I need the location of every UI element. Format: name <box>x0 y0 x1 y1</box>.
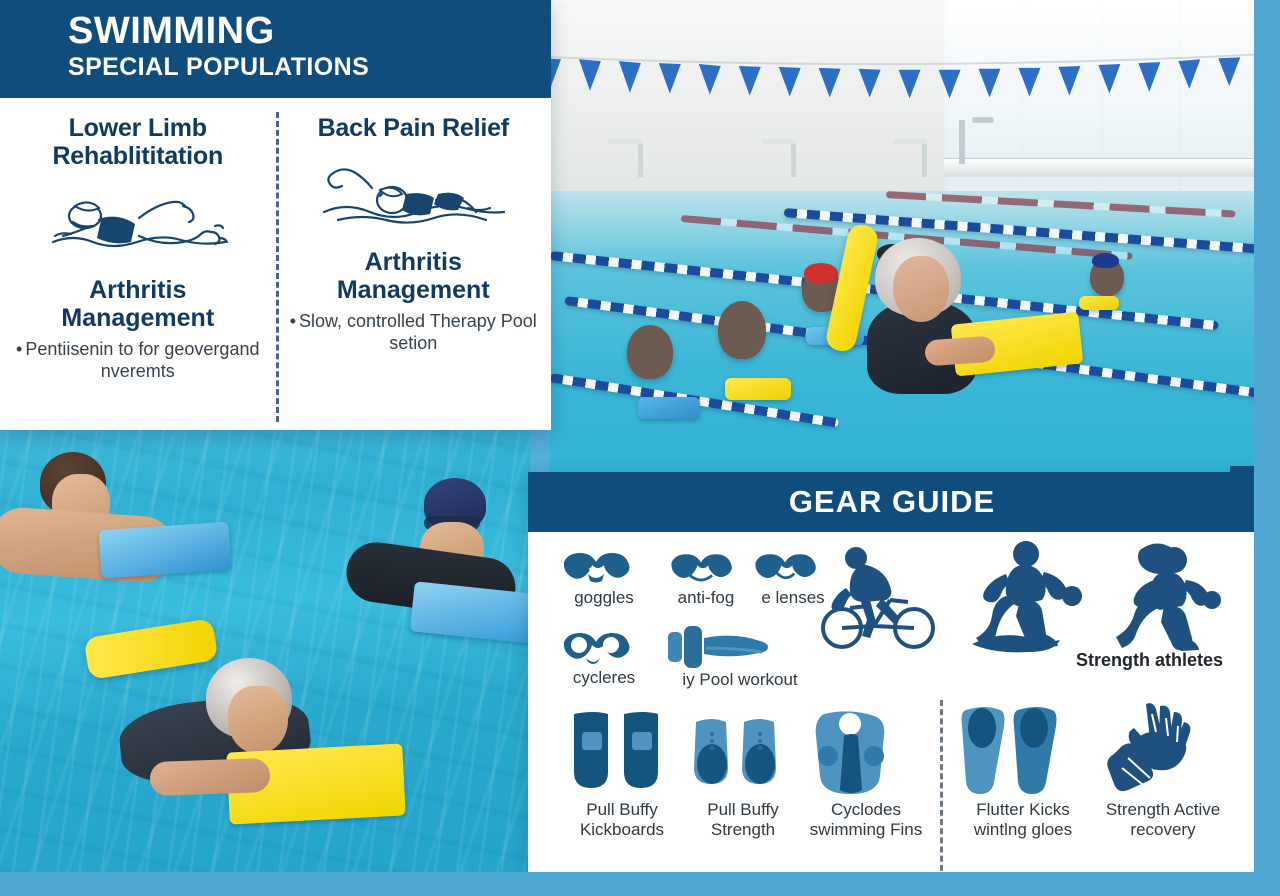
gear-guide-card: GEAR GUIDE goggles anti-f <box>528 472 1256 872</box>
goggles-icon <box>558 630 634 668</box>
gear-item-label: Flutter Kicks wintlng gloes <box>948 800 1098 840</box>
swim-fin-icon <box>800 708 904 800</box>
dumbbell-icon <box>660 624 770 670</box>
cyclist-icon <box>820 542 944 652</box>
infographic-canvas: SWIMMING SPECIAL POPULATIONS Lower Limb … <box>0 0 1280 896</box>
bullet-dot: • <box>16 339 22 359</box>
runner-icon <box>948 538 1098 658</box>
column-heading: Lower Limb Rehablititation <box>14 114 262 170</box>
gear-item[interactable]: Cyclodes swimming Fins <box>800 708 932 840</box>
kickboard-blue <box>638 397 700 419</box>
pool-lanes-photo <box>550 0 1280 478</box>
gear-guide-body: goggles anti-fog e lenses <box>528 532 1256 872</box>
gear-item-label: cycleres <box>558 668 650 688</box>
gear-item-label: Strength Active recovery <box>1088 800 1238 840</box>
column-lower-limb: Lower Limb Rehablititation <box>0 98 276 440</box>
column-subheading: Arthritis Management <box>290 248 538 304</box>
gear-item-label: anti-fog <box>666 588 746 608</box>
gear-item-label: Cyclodes swimming Fins <box>800 800 932 840</box>
pennant-flags-icon <box>550 43 1280 110</box>
corner-accent <box>1230 466 1256 528</box>
kickboard-pair-icon <box>562 708 674 800</box>
right-edge-rail <box>1254 0 1280 896</box>
special-populations-card: SWIMMING SPECIAL POPULATIONS Lower Limb … <box>0 0 551 430</box>
gear-item[interactable]: Pull Buffy Kickboards <box>562 708 682 840</box>
special-populations-columns: Lower Limb Rehablititation <box>0 98 551 440</box>
bottom-edge-rail <box>0 872 1280 896</box>
bullet-text: Slow, controlled Therapy Pool setion <box>299 311 537 353</box>
page-title: SWIMMING <box>68 12 551 51</box>
column-back-pain: Back Pain Relief <box>276 98 552 440</box>
senior-swimmer-foreground <box>813 220 1113 450</box>
column-subheading: Arthritis Management <box>14 276 262 332</box>
gear-item[interactable]: Flutter Kicks wintlng gloes <box>948 704 1098 840</box>
gear-item-label: Pull Buffy Strength <box>686 800 800 840</box>
page-subtitle: SPECIAL POPULATIONS <box>68 53 551 82</box>
swimmer-background <box>718 301 766 359</box>
gear-item[interactable]: anti-fog <box>666 550 746 608</box>
flippers-icon <box>948 704 1066 800</box>
runner-female-icon <box>1088 536 1228 656</box>
gear-item[interactable]: Strength Active recovery <box>1088 700 1238 840</box>
gear-item-label: Pull Buffy Kickboards <box>562 800 682 840</box>
column-bullet: •Pentiisenin to for geovergand nveremts <box>14 338 262 383</box>
kickboard-blue <box>98 522 231 579</box>
swim-gloves-icon <box>1088 700 1200 800</box>
bullet-dot: • <box>290 311 296 331</box>
gear-item-label: goggles <box>558 588 650 608</box>
gear-item-label: iy Pool workout <box>660 670 820 690</box>
athlete-item[interactable] <box>948 538 1098 658</box>
gear-item[interactable]: cycleres <box>558 630 650 688</box>
gear-divider <box>940 700 943 880</box>
athlete-label: Strength athletes <box>1076 650 1223 671</box>
column-bullet: •Slow, controlled Therapy Pool setion <box>290 310 538 355</box>
goggles-icon <box>666 550 736 588</box>
gear-guide-title: GEAR GUIDE <box>528 472 1256 532</box>
gear-item[interactable]: Pull Buffy Strength <box>686 712 800 840</box>
column-divider <box>276 112 279 422</box>
aqua-therapy-photo <box>0 430 530 896</box>
pool-hall-windowsill <box>944 158 1280 177</box>
swimmer-backstroke-icon <box>318 156 508 234</box>
swimmer-freestyle-icon <box>43 184 233 262</box>
goggles-icon <box>558 550 634 588</box>
kickboard-yellow <box>725 378 791 400</box>
gear-item[interactable]: iy Pool workout <box>660 624 820 690</box>
athlete-item[interactable] <box>1088 536 1228 656</box>
swimmer-background <box>627 325 673 379</box>
athlete-item[interactable] <box>820 542 950 652</box>
header-banner: SWIMMING SPECIAL POPULATIONS <box>0 0 551 98</box>
pull-buoy-icon <box>686 712 790 800</box>
column-heading: Back Pain Relief <box>318 114 509 142</box>
goggles-icon <box>750 550 820 588</box>
bullet-text: Pentiisenin to for geovergand nveremts <box>25 339 259 381</box>
gear-item[interactable]: goggles <box>558 550 650 608</box>
